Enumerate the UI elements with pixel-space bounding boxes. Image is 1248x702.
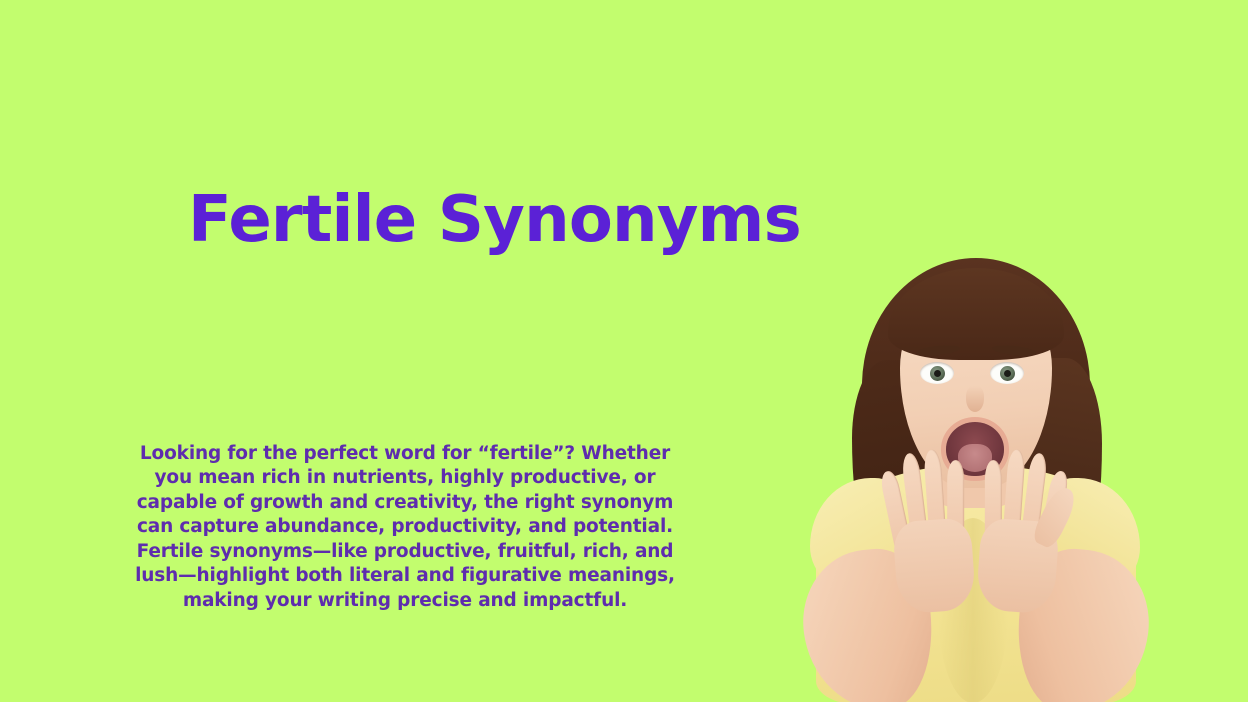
iris-right	[1000, 366, 1015, 381]
nose	[966, 386, 984, 412]
slide-canvas: Fertile Synonyms Looking for the perfect…	[0, 0, 1248, 702]
surprised-woman-photo	[790, 250, 1160, 702]
eye-left	[920, 362, 954, 384]
eye-right	[990, 362, 1024, 384]
woman-figure	[790, 250, 1160, 702]
pupil-right	[1004, 370, 1011, 377]
pupil-left	[934, 370, 941, 377]
iris-left	[930, 366, 945, 381]
body-paragraph: Looking for the perfect word for “fertil…	[125, 442, 685, 614]
palm	[892, 517, 976, 614]
page-title: Fertile Synonyms	[188, 184, 808, 258]
